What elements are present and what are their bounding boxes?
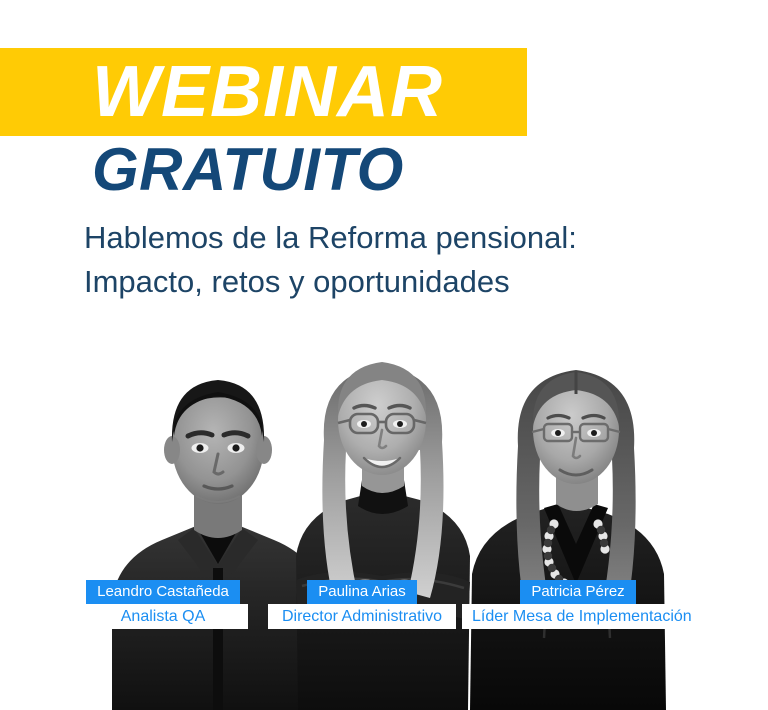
speaker-name-badge-1: Paulina Arias [307,580,417,604]
speaker-name-badge-2: Patricia Pérez [520,580,635,604]
speaker-name-badge-0: Leandro Castañeda [86,580,240,604]
webinar-poster: WEBINAR GRATUITO Hablemos de la Reforma … [0,0,768,710]
speaker-label-1: Paulina Arias Director Administrativo [268,580,456,629]
speaker-photo-patricia-perez [448,338,708,710]
headline-webinar: WEBINAR [92,52,522,132]
speaker-role-1: Director Administrativo [268,604,456,629]
subtitle-block: Hablemos de la Reforma pensional: Impact… [84,216,724,304]
speaker-role-2: Líder Mesa de Implementación [462,604,694,629]
subtitle-line-1: Hablemos de la Reforma pensional: [84,216,724,260]
speaker-role-0: Analista QA [78,604,248,629]
headline-gratuito: GRATUITO [92,139,522,201]
speaker-photo-band [0,330,768,710]
speaker-label-2: Patricia Pérez Líder Mesa de Implementac… [462,580,694,629]
speaker-label-0: Leandro Castañeda Analista QA [78,580,248,629]
subtitle-line-2: Impacto, retos y oportunidades [84,260,724,304]
